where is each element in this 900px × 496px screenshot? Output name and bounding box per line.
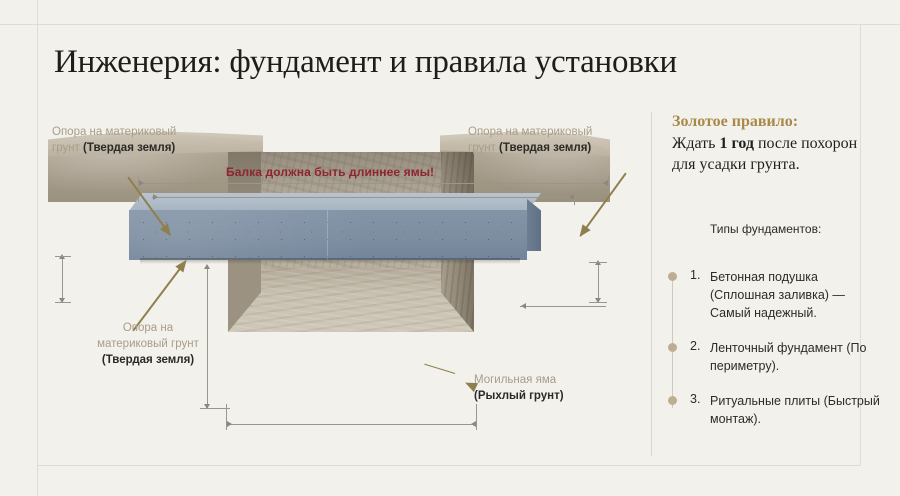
callout-arrow-pit <box>466 382 467 384</box>
golden-rule-text-before: Ждать <box>672 135 719 152</box>
dim-line-pit-width <box>226 424 476 425</box>
label-pit: Могильная яма (Рыхлый грунт) <box>474 372 674 404</box>
list-item-label: Бетонная подушка (Сплошная заливка) — Са… <box>710 270 845 320</box>
bullet-dot-icon <box>668 396 677 405</box>
beam-seam <box>327 210 328 260</box>
beam-front-face <box>129 210 527 260</box>
slide-root: Инженерия: фундамент и правила установки <box>0 0 900 496</box>
label-pit-line1: Могильная яма <box>474 374 556 386</box>
dim-line-soil-right <box>598 262 599 302</box>
dim-ext-soil-right-bottom <box>589 302 607 303</box>
dim-arrow-span-left <box>153 194 158 200</box>
label-support-left-line2: грунт <box>52 142 83 154</box>
label-support-left: Опора на материковый грунт (Твердая земл… <box>52 124 252 156</box>
page-title: Инженерия: фундамент и правила установки <box>54 44 677 81</box>
label-support-bottom-line1: Опора на <box>123 322 173 334</box>
list-item-number: 1. <box>690 268 700 282</box>
content-divider <box>651 112 652 456</box>
dim-arrow-depth-top <box>204 264 210 269</box>
label-support-left-line1: Опора на материковый <box>52 126 176 138</box>
label-support-right-line1: Опора на материковый <box>468 126 592 138</box>
beam-end-face <box>527 199 541 251</box>
label-support-left-strong: (Твердая земля) <box>83 142 175 154</box>
golden-rule-text-bold: 1 год <box>719 135 754 152</box>
dim-arrow-pit-right <box>471 421 476 427</box>
foundation-types-list: 1. Бетонная подушка (Сплошная заливка) —… <box>668 268 883 445</box>
list-item-number: 2. <box>690 339 700 353</box>
label-pit-strong: (Рыхлый грунт) <box>474 390 564 402</box>
dim-ext-soil-left-top <box>55 256 71 257</box>
list-item[interactable]: 3. Ритуальные плиты (Быстрый монтаж). <box>668 392 883 428</box>
dim-line-soil-left <box>62 256 63 302</box>
warning-beam-longer-than-pit: Балка должна быть длиннее ямы! <box>226 165 434 179</box>
list-item[interactable]: 2. Ленточный фундамент (По периметру). <box>668 339 883 375</box>
frame-rule-horizontal <box>0 24 900 25</box>
dim-line-soil-right-bottom <box>520 306 606 307</box>
frame-rule-vertical <box>37 0 38 496</box>
callout-leader-pit <box>424 364 455 374</box>
bullet-dot-icon <box>668 272 677 281</box>
beam-cast-shadow <box>140 258 520 264</box>
beam-top-face <box>129 193 541 211</box>
foundation-types-title: Типы фундаментов: <box>710 222 821 236</box>
label-support-bottom-strong: (Твердая земля) <box>102 354 194 366</box>
dim-arrow-beam-left <box>139 180 144 186</box>
dim-arrow-pit-left <box>227 421 232 427</box>
dim-arrow-beam-right <box>603 180 608 186</box>
dim-ext-soil-left-bottom <box>55 302 71 303</box>
dim-tick-pit-right <box>476 404 477 430</box>
label-support-right: Опора на материковый грунт (Твердая земл… <box>468 124 668 156</box>
pit-floor <box>228 268 474 332</box>
list-item-label: Ленточный фундамент (По периметру). <box>710 341 866 373</box>
dim-ext-depth-bottom <box>200 408 230 409</box>
dim-line-beam-span <box>152 197 574 198</box>
list-item-number: 3. <box>690 392 700 406</box>
label-support-right-strong: (Твердая земля) <box>499 142 591 154</box>
dim-ext-soil-right-top <box>589 262 607 263</box>
list-item[interactable]: 1. Бетонная подушка (Сплошная заливка) —… <box>668 268 883 322</box>
dim-tick-span-right <box>574 193 575 205</box>
sidebar: Золотое правило: Ждать 1 год после похор… <box>672 112 872 175</box>
dim-line-beam-length <box>138 183 608 184</box>
bullet-dot-icon <box>668 343 677 352</box>
golden-rule-heading: Золотое правило: <box>672 112 872 132</box>
dim-arrow-soil-right-bot-left <box>521 303 526 309</box>
list-item-label: Ритуальные плиты (Быстрый монтаж). <box>710 394 880 426</box>
label-support-bottom: Опора на материковый грунт (Твердая земл… <box>48 320 248 368</box>
label-support-right-line2: грунт <box>468 142 499 154</box>
label-support-bottom-line2: материковый грунт <box>97 338 199 350</box>
golden-rule-text: Ждать 1 год после похорон для усадки гру… <box>672 133 872 175</box>
